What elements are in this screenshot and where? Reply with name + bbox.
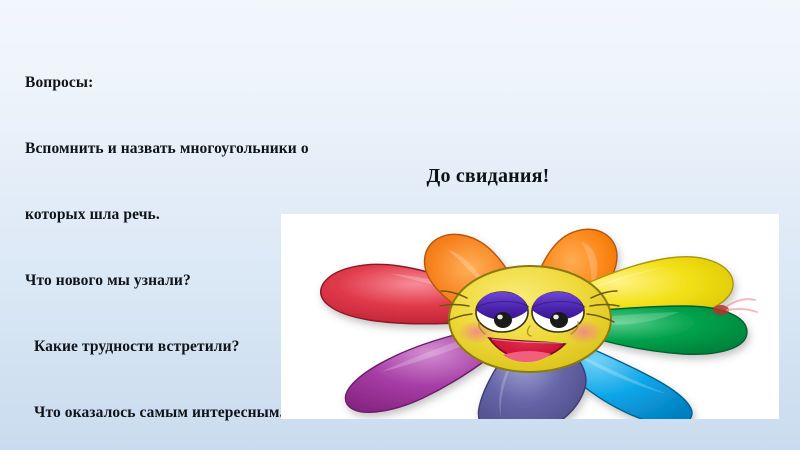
flower-illustration <box>281 214 779 419</box>
eye-left <box>476 292 529 332</box>
slide-canvas: Вопросы: Вспомнить и назвать многоугольн… <box>0 0 800 450</box>
flower-picture-frame <box>281 214 779 419</box>
questions-heading: Вопросы: <box>25 72 425 94</box>
flower-svg <box>281 214 779 419</box>
eye-right <box>532 292 585 332</box>
farewell-heading: До свидания! <box>0 165 800 188</box>
question-line-1: Вспомнить и назвать многоугольники о <box>25 138 425 160</box>
